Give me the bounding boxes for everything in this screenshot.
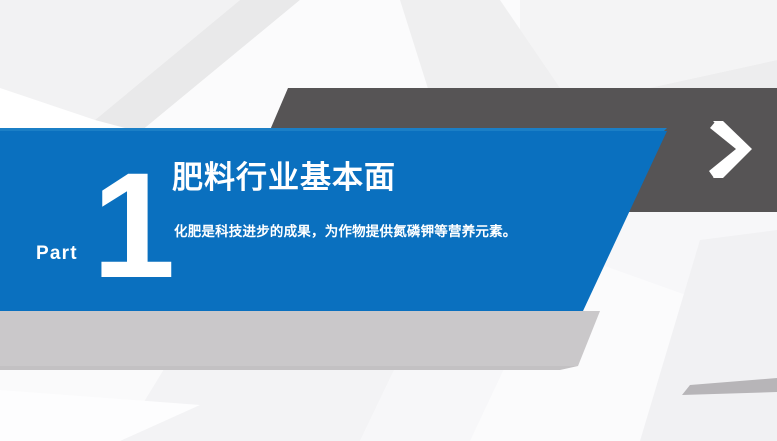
chevron-right-icon[interactable] [706, 118, 758, 182]
page-title: 肥料行业基本面 [172, 161, 396, 197]
page-subtitle: 化肥是科技进步的成果，为作物提供氮磷钾等营养元素。 [174, 222, 534, 243]
part-label: Part [36, 244, 78, 263]
part-number: 1 [92, 150, 171, 300]
presentation-slide: Part 1 肥料行业基本面 化肥是科技进步的成果，为作物提供氮磷钾等营养元素。 [0, 0, 777, 441]
